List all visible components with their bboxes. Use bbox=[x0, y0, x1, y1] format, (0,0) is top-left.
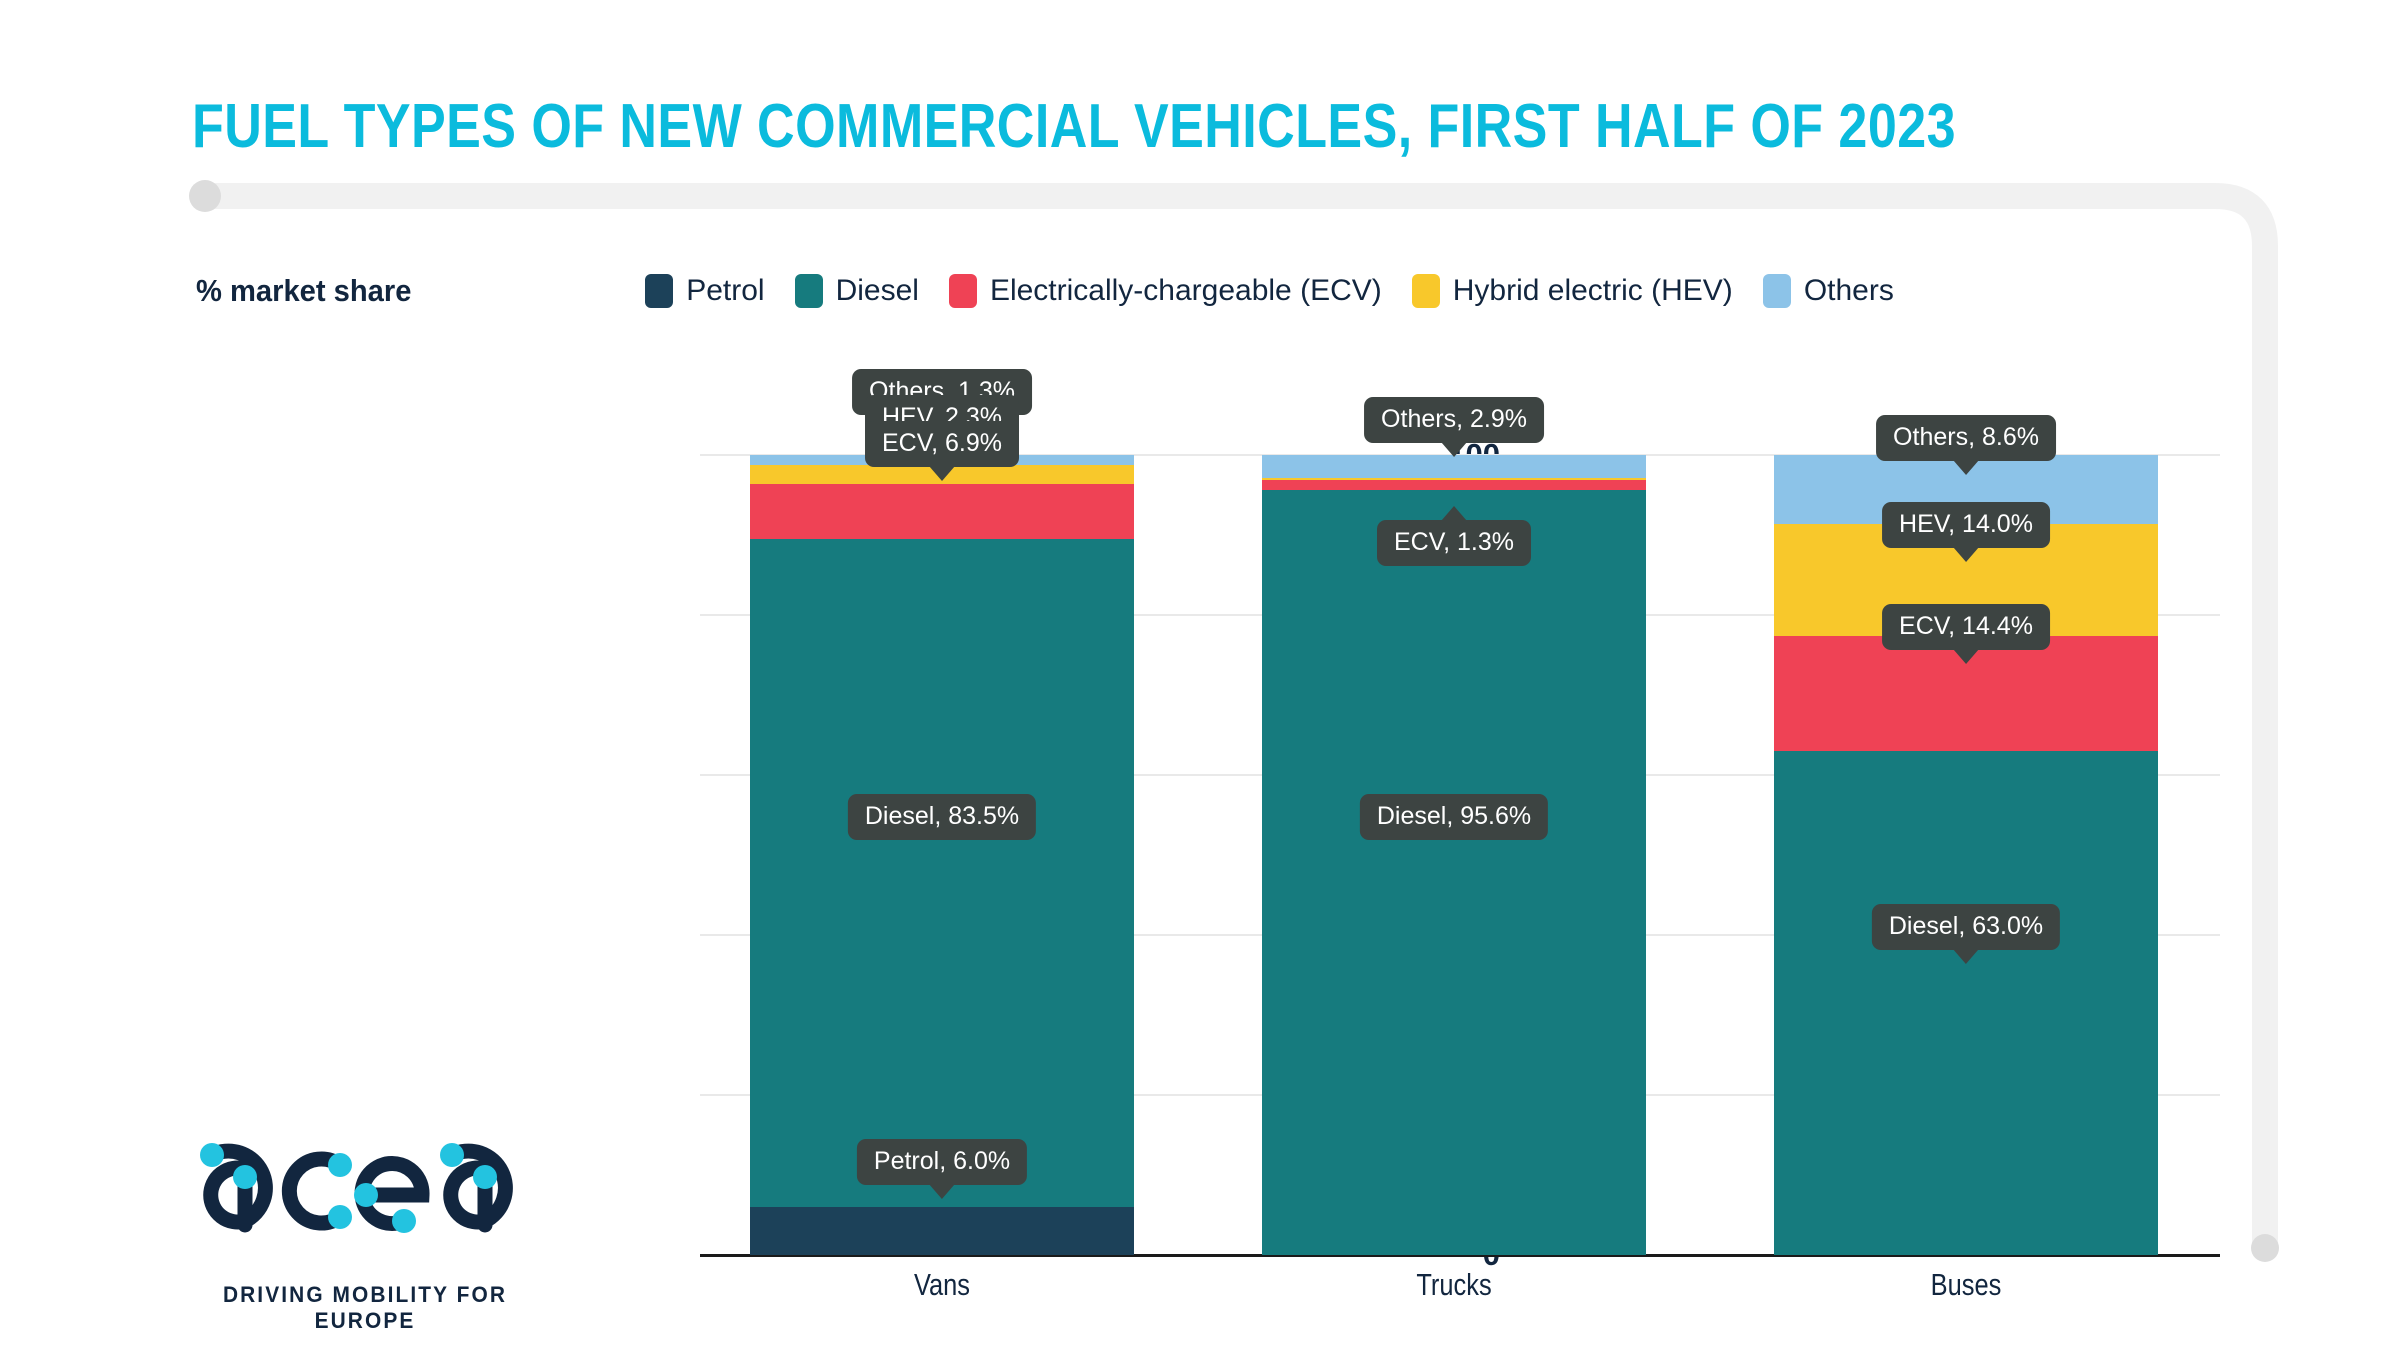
bar-segment-ecv[interactable] bbox=[1262, 480, 1646, 490]
data-label-tooltip: Others, 8.6% bbox=[1876, 415, 2056, 461]
data-label-tooltip: Diesel, 83.5% bbox=[848, 794, 1036, 840]
bar-segment-ecv[interactable] bbox=[750, 484, 1134, 539]
data-label-tooltip: Petrol, 6.0% bbox=[857, 1139, 1027, 1185]
data-label-tooltip: Diesel, 95.6% bbox=[1360, 794, 1548, 840]
x-axis-tick-label: Trucks bbox=[1297, 1267, 1612, 1303]
data-label-tooltip: ECV, 6.9% bbox=[865, 421, 1019, 467]
x-axis-tick-label: Buses bbox=[1809, 1267, 2124, 1303]
x-axis-tick-label: Vans bbox=[785, 1267, 1100, 1303]
data-label-tooltip: ECV, 14.4% bbox=[1882, 604, 2050, 650]
data-label-tooltip: Diesel, 63.0% bbox=[1872, 904, 2060, 950]
bar-vans[interactable] bbox=[750, 455, 1134, 1255]
data-label-tooltip: ECV, 1.3% bbox=[1377, 520, 1531, 566]
bar-segment-diesel[interactable] bbox=[1774, 751, 2158, 1255]
plot-area: VansTrucksBuses bbox=[700, 455, 2220, 1255]
bar-buses[interactable] bbox=[1774, 455, 2158, 1255]
data-label-tooltip: Others, 2.9% bbox=[1364, 397, 1544, 443]
bar-segment-diesel[interactable] bbox=[1262, 490, 1646, 1255]
acea-logo bbox=[190, 1125, 540, 1255]
acea-tagline: DRIVING MOBILITY FOR EUROPE bbox=[199, 1282, 532, 1334]
bar-segment-petrol[interactable] bbox=[750, 1207, 1134, 1255]
bar-trucks[interactable] bbox=[1262, 455, 1646, 1255]
data-label-tooltip: HEV, 14.0% bbox=[1882, 502, 2050, 548]
bar-segment-diesel[interactable] bbox=[750, 539, 1134, 1207]
bar-segment-others[interactable] bbox=[1262, 455, 1646, 478]
